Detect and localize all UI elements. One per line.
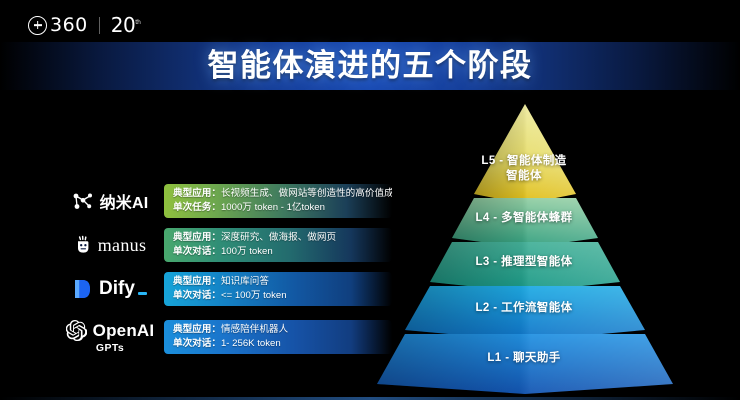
product-sub-name: GPTs: [96, 342, 124, 354]
anniversary-suffix: th: [135, 19, 140, 26]
product-card-dify: 典型应用：知识库问答 单次对话：<= 100万 token: [164, 272, 392, 306]
dify-d-icon: [73, 278, 93, 300]
nano-ai-node-graph-icon: [72, 191, 94, 211]
card-line-1-label: 典型应用：: [173, 324, 221, 335]
brand-logo: 360 20th: [28, 12, 140, 38]
brand-name: 360: [50, 14, 88, 36]
pyramid-level-L3[interactable]: [430, 242, 620, 292]
product-list: 纳米AI 典型应用：长视频生成、做网站等创造性的高价值成果 单次任务：1000万…: [62, 182, 392, 366]
card-line-2-label: 单次任务：: [173, 202, 221, 213]
brand-360: 360: [28, 14, 88, 36]
card-line-2: 单次任务：1000万 token - 1亿token: [173, 201, 384, 215]
card-line-1-value: 深度研究、做海报、做网页: [221, 232, 336, 243]
pyramid-level-L1[interactable]: [377, 334, 673, 394]
product-logo-dify: Dify: [62, 278, 158, 300]
360-circle-plus-icon: [28, 16, 47, 35]
pyramid-level-L4[interactable]: [452, 198, 598, 248]
product-card-nano-ai: 典型应用：长视频生成、做网站等创造性的高价值成果 单次任务：1000万 toke…: [164, 184, 392, 218]
product-name: 纳米AI: [100, 189, 149, 213]
card-line-1-label: 典型应用：: [173, 276, 221, 287]
product-logo-openai: OpenAI GPTs: [62, 320, 158, 354]
product-card-manus: 典型应用：深度研究、做海报、做网页 单次对话：100万 token: [164, 228, 392, 262]
slide-root: 360 20th 智能体演进的五个阶段: [0, 0, 740, 400]
card-line-1-value: 情感陪伴机器人: [221, 324, 288, 335]
product-row-manus[interactable]: manus 典型应用：深度研究、做海报、做网页 单次对话：100万 token: [62, 226, 392, 264]
brand-divider: [99, 17, 100, 34]
product-card-openai-gpts: 典型应用：情感陪伴机器人 单次对话：1- 256K token: [164, 320, 392, 354]
product-name: OpenAI: [93, 321, 155, 341]
dify-underscore-accent: [138, 292, 147, 295]
card-line-2-value: <= 100万 token: [221, 290, 287, 301]
product-name: Dify: [99, 278, 135, 300]
card-line-2: 单次对话：<= 100万 token: [173, 289, 384, 303]
product-row-dify[interactable]: Dify 典型应用：知识库问答 单次对话：<= 100万 token: [62, 270, 392, 308]
card-line-2: 单次对话：100万 token: [173, 245, 384, 259]
card-line-1: 典型应用：知识库问答: [173, 275, 384, 289]
card-line-2-value: 1000万 token - 1亿token: [221, 202, 325, 213]
openai-knot-icon: [66, 320, 87, 341]
card-line-1-value: 知识库问答: [221, 276, 269, 287]
anniversary-number: 20: [111, 13, 135, 37]
manus-hand-icon: [74, 235, 92, 255]
card-line-1: 典型应用：长视频生成、做网站等创造性的高价值成果: [173, 187, 384, 201]
card-line-2-value: 1- 256K token: [221, 338, 281, 349]
card-line-2-label: 单次对话：: [173, 338, 221, 349]
card-line-2-label: 单次对话：: [173, 290, 221, 301]
product-row-openai-gpts[interactable]: OpenAI GPTs 典型应用：情感陪伴机器人 单次对话：1- 256K to…: [62, 314, 392, 360]
card-line-2-value: 100万 token: [221, 246, 273, 257]
product-row-nano-ai[interactable]: 纳米AI 典型应用：长视频生成、做网站等创造性的高价值成果 单次任务：1000万…: [62, 182, 392, 220]
page-title: 智能体演进的五个阶段: [0, 44, 740, 88]
pyramid-level-L2[interactable]: [405, 286, 645, 341]
card-line-2: 单次对话：1- 256K token: [173, 337, 384, 351]
card-line-1: 典型应用：深度研究、做海报、做网页: [173, 231, 384, 245]
card-line-1: 典型应用：情感陪伴机器人: [173, 323, 384, 337]
card-line-1-label: 典型应用：: [173, 232, 221, 243]
pyramid-svg: [368, 98, 680, 394]
pyramid-chart: L5 - 智能体制造 智能体 L4 - 多智能体蜂群 L3 - 推理型智能体 L…: [368, 98, 680, 394]
card-line-2-label: 单次对话：: [173, 246, 221, 257]
product-logo-nano-ai: 纳米AI: [62, 189, 158, 213]
pyramid-level-L5[interactable]: [474, 104, 576, 204]
anniversary-badge: 20th: [111, 13, 141, 37]
card-line-1-label: 典型应用：: [173, 188, 221, 199]
card-line-1-value: 长视频生成、做网站等创造性的高价值成果: [221, 188, 392, 199]
product-name: manus: [98, 235, 147, 256]
product-logo-manus: manus: [62, 235, 158, 256]
